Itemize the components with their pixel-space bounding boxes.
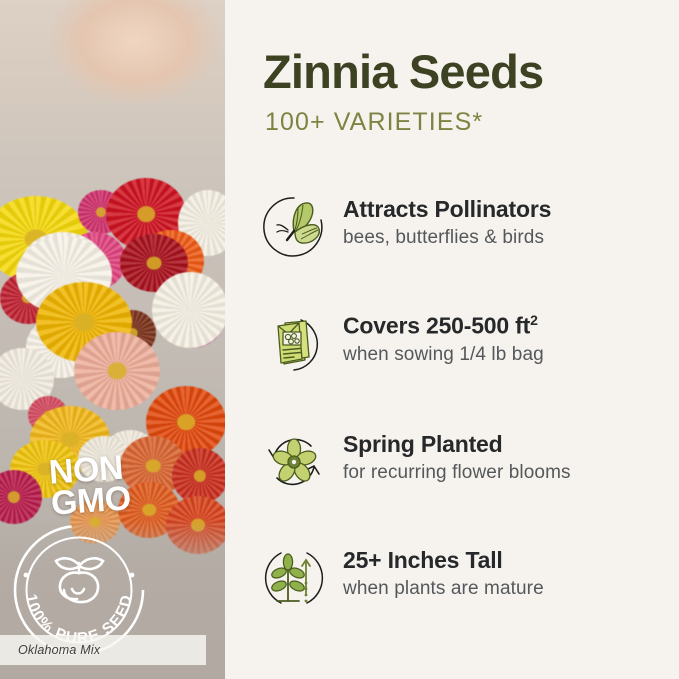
feature-row-height: 25+ Inches Tall when plants are mature — [261, 543, 661, 623]
feature-subtext: when sowing 1/4 lb bag — [343, 344, 544, 367]
badge-line-2: GMO — [50, 483, 132, 519]
plant-height-icon — [261, 545, 327, 611]
feature-row-coverage: Covers 250-500 ft2 when sowing 1/4 lb ba… — [261, 308, 661, 388]
product-infographic: NON GMO — [0, 0, 679, 679]
feature-text: 25+ Inches Tall when plants are mature — [343, 547, 544, 601]
seed-packets-icon — [261, 310, 327, 376]
feature-subtext: when plants are mature — [343, 578, 544, 601]
feature-row-spring: Spring Planted for recurring flower bloo… — [261, 427, 661, 507]
feature-text: Covers 250-500 ft2 when sowing 1/4 lb ba… — [343, 312, 544, 367]
flower-peach — [74, 332, 160, 410]
feature-heading-superscript: 2 — [530, 312, 538, 328]
page-title: Zinnia Seeds — [263, 48, 543, 95]
non-gmo-badge: NON GMO — [34, 455, 214, 655]
non-gmo-text: NON GMO — [48, 452, 132, 519]
page-subtitle: 100+ VARIETIES* — [265, 110, 483, 135]
feature-text: Attracts Pollinators bees, butterflies &… — [343, 196, 551, 250]
feature-text: Spring Planted for recurring flower bloo… — [343, 431, 571, 485]
feature-subtext: bees, butterflies & birds — [343, 227, 551, 250]
flower-white — [152, 272, 225, 348]
butterfly-icon — [261, 194, 327, 260]
feature-heading-main: Covers 250-500 ft — [343, 313, 530, 339]
feature-heading: Attracts Pollinators — [343, 196, 551, 222]
photo-caption-text: Oklahoma Mix — [0, 643, 100, 657]
feature-subtext: for recurring flower blooms — [343, 462, 571, 485]
flower-cycle-icon — [261, 429, 327, 495]
feature-heading: Spring Planted — [343, 431, 571, 457]
info-panel: Zinnia Seeds 100+ VARIETIES* A — [225, 0, 679, 679]
photo-caption: Oklahoma Mix — [0, 635, 206, 665]
feature-row-pollinators: Attracts Pollinators bees, butterflies &… — [261, 192, 661, 272]
feature-heading: 25+ Inches Tall — [343, 547, 544, 573]
product-photo: NON GMO — [0, 0, 225, 679]
feature-heading: Covers 250-500 ft2 — [343, 312, 544, 339]
